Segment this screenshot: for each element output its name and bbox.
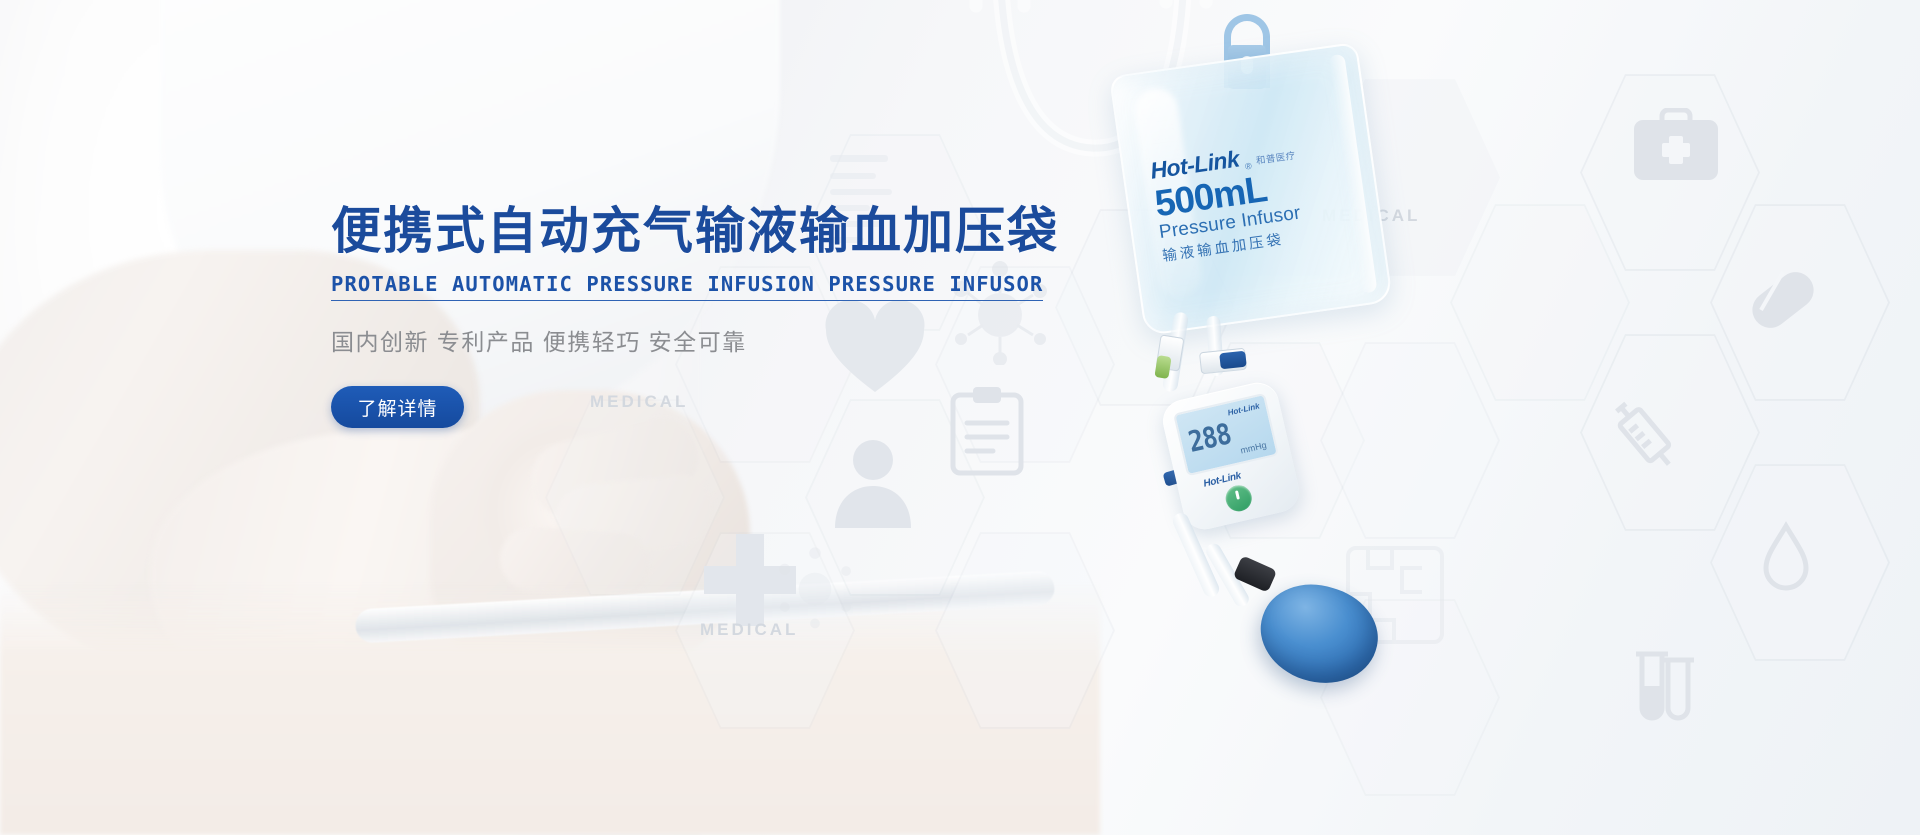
english-subtitle: PROTABLE AUTOMATIC PRESSURE INFUSION PRE…: [331, 272, 1043, 301]
power-button-icon[interactable]: [1223, 483, 1254, 514]
pressure-unit: mmHg: [1239, 440, 1267, 456]
learn-more-button[interactable]: 了解详情: [331, 386, 464, 428]
subline-wrapper: PROTABLE AUTOMATIC PRESSURE INFUSION PRE…: [331, 272, 991, 301]
inflation-bulb: [1248, 570, 1390, 698]
blue-stopcock-handle: [1219, 351, 1247, 370]
lcd-screen: Hot-Link 288 mmHg: [1173, 393, 1279, 477]
screen-brand: Hot-Link: [1227, 401, 1261, 417]
hero-copy: 便携式自动充气输液输血加压袋 PROTABLE AUTOMATIC PRESSU…: [331, 204, 991, 428]
hero-banner: MEDICAL: [0, 0, 1920, 835]
feature-tagline: 国内创新 专利产品 便携轻巧 安全可靠: [331, 323, 991, 357]
product-image: Hot-Link ® 和普医疗 500mL Pressure Infusor 输…: [1060, 0, 1920, 835]
pressure-infusion-bag: Hot-Link ® 和普医疗 500mL Pressure Infusor 输…: [1109, 42, 1393, 336]
pressure-reading: 288: [1185, 417, 1234, 459]
page-title: 便携式自动充气输液输血加压袋: [331, 204, 991, 259]
pressure-monitor-device: Hot-Link 288 mmHg Hot-Link: [1159, 378, 1304, 533]
